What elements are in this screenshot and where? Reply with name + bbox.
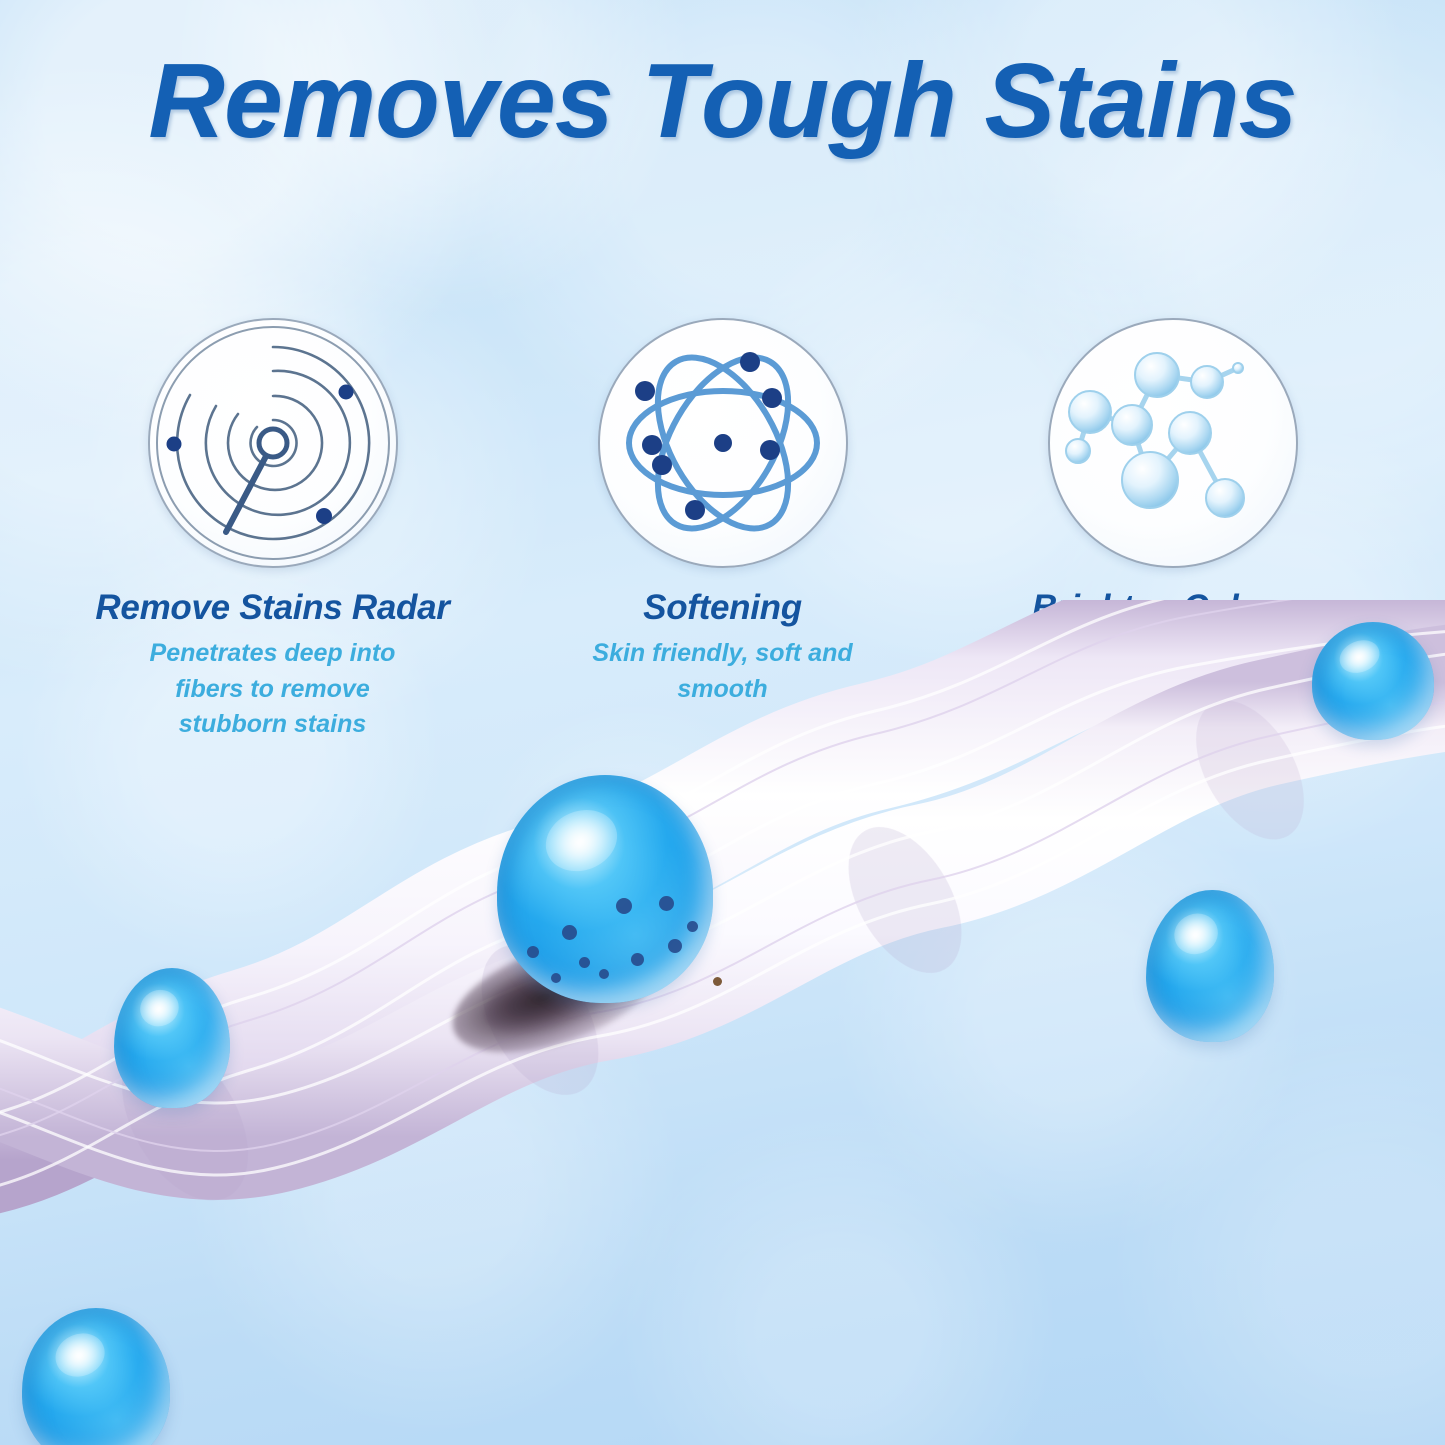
molecule-icon <box>1050 320 1296 566</box>
page-title: Removes Tough Stains <box>0 46 1445 157</box>
stain-speck <box>668 939 682 953</box>
stain-speck <box>616 898 632 914</box>
stain-speck <box>579 957 590 968</box>
poster-root: Removes Tough Stains <box>0 0 1445 1445</box>
radar-icon-circle <box>148 318 398 568</box>
stain-speck <box>527 946 539 958</box>
dirt-speck <box>713 977 722 986</box>
stain-speck <box>631 953 644 966</box>
atom-icon <box>600 320 846 566</box>
atom-icon-circle <box>598 318 848 568</box>
stain-speck <box>562 925 577 940</box>
molecule-icon-circle <box>1048 318 1298 568</box>
stain-speck <box>599 969 609 979</box>
stain-speck <box>659 896 674 911</box>
stain-speck <box>551 973 561 983</box>
stain-speck <box>687 921 698 932</box>
radar-icon <box>150 320 396 566</box>
twisted-fiber-illustration <box>0 600 1445 1445</box>
droplet-top-right <box>1312 622 1434 740</box>
droplet-main-stain <box>497 775 713 1003</box>
